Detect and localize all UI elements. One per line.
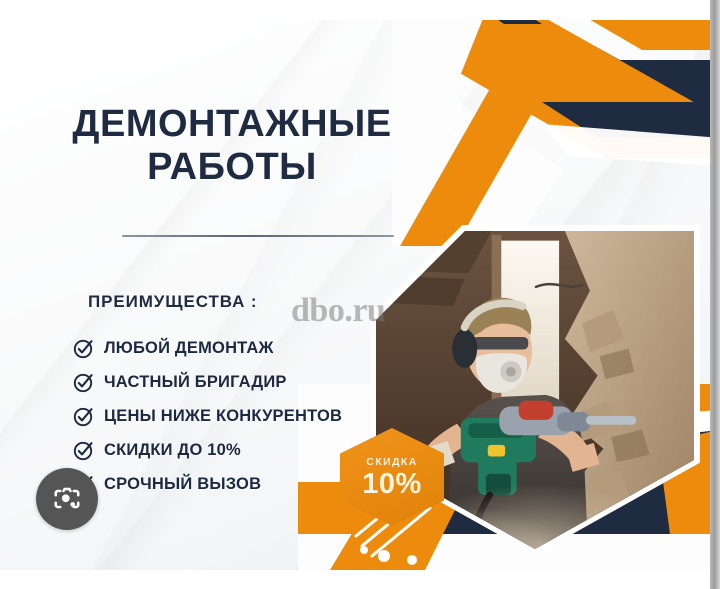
top-right-chevron-decoration (392, 20, 712, 246)
list-item: ЦЕНЫ НИЖЕ КОНКУРЕНТОВ (74, 400, 342, 432)
check-circle-icon (74, 339, 93, 358)
list-item-label: ЛЮБОЙ ДЕМОНТАЖ (104, 339, 274, 358)
benefits-list: ЛЮБОЙ ДЕМОНТАЖ ЧАСТНЫЙ БРИГАДИР (74, 332, 342, 502)
google-lens-button[interactable] (36, 468, 98, 530)
list-item: ЧАСТНЫЙ БРИГАДИР (74, 366, 342, 398)
benefits-heading: ПРЕИМУЩЕСТВА : (88, 292, 257, 312)
title-divider (122, 235, 394, 237)
discount-badge-caption: СКИДКА (366, 456, 417, 468)
list-item-label: ЦЕНЫ НИЖЕ КОНКУРЕНТОВ (104, 407, 342, 426)
google-lens-camera-icon (52, 484, 82, 514)
list-item-label: СКИДКИ ДО 10% (104, 441, 241, 460)
list-item: ЛЮБОЙ ДЕМОНТАЖ (74, 332, 342, 364)
check-circle-icon (74, 407, 93, 426)
list-item-label: ЧАСТНЫЙ БРИГАДИР (104, 373, 287, 392)
screenshot-root: ДЕМОНТАЖНЫЕ РАБОТЫ dbo.ru ПРЕИМУЩЕСТВА :… (0, 0, 720, 589)
list-item: СКИДКИ ДО 10% (74, 434, 342, 466)
list-item: СРОЧНЫЙ ВЫЗОВ (74, 468, 342, 500)
list-item-label: СРОЧНЫЙ ВЫЗОВ (104, 475, 261, 494)
page-edge-scrollbar[interactable] (710, 0, 720, 589)
check-circle-icon (74, 441, 93, 460)
check-circle-icon (74, 373, 93, 392)
page-title: ДЕМОНТАЖНЫЕ РАБОТЫ (62, 105, 402, 187)
poster-artwork: ДЕМОНТАЖНЫЕ РАБОТЫ dbo.ru ПРЕИМУЩЕСТВА :… (0, 20, 712, 570)
headline-line-1: ДЕМОНТАЖНЫЕ (62, 105, 402, 144)
discount-badge-value: 10% (362, 470, 422, 499)
headline-line-2: РАБОТЫ (62, 148, 402, 187)
